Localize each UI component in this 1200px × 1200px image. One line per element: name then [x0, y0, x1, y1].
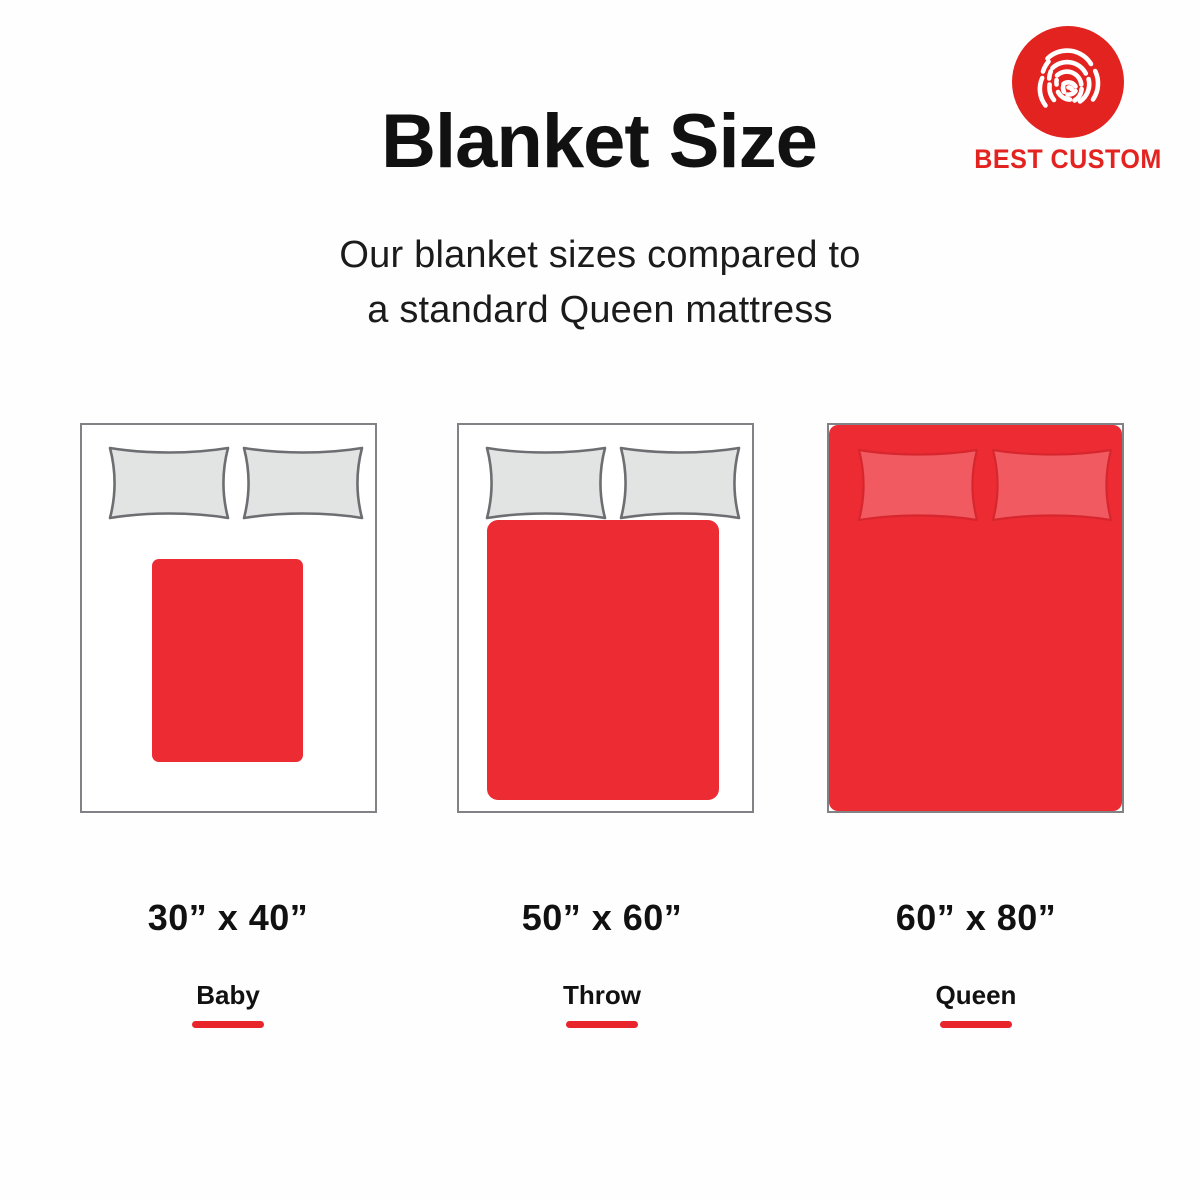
size-dimensions: 50” x 60” — [432, 900, 772, 936]
pillow-left — [855, 446, 981, 524]
pillow-right — [617, 444, 743, 522]
blanket-queen — [829, 425, 1122, 811]
caption-throw: 50” x 60” Throw — [432, 900, 772, 1028]
size-name: Baby — [58, 982, 398, 1008]
size-name: Throw — [432, 982, 772, 1008]
pillow-left — [483, 444, 609, 522]
size-name: Queen — [806, 982, 1146, 1008]
accent-underline — [566, 1021, 638, 1028]
bed-diagram-baby — [80, 423, 377, 813]
pillow-left — [106, 444, 232, 522]
subtitle-line-2: a standard Queen mattress — [0, 283, 1200, 338]
caption-baby: 30” x 40” Baby — [58, 900, 398, 1028]
blanket-throw — [487, 520, 719, 800]
size-dimensions: 30” x 40” — [58, 900, 398, 936]
pillow-right — [240, 444, 366, 522]
size-dimensions: 60” x 80” — [806, 900, 1146, 936]
blanket-baby — [152, 559, 303, 762]
page-title: Blanket Size — [0, 104, 1199, 180]
pillow-right — [989, 446, 1115, 524]
bed-diagram-throw — [457, 423, 754, 813]
bed-diagram-queen — [827, 423, 1124, 813]
accent-underline — [940, 1021, 1012, 1028]
subtitle-line-1: Our blanket sizes compared to — [0, 228, 1200, 283]
infographic-canvas: BEST CUSTOM Blanket Size Our blanket siz… — [0, 0, 1200, 1200]
caption-queen: 60” x 80” Queen — [806, 900, 1146, 1028]
accent-underline — [192, 1021, 264, 1028]
bed-comparison-group — [0, 423, 1200, 823]
caption-group: 30” x 40” Baby 50” x 60” Throw 60” x 80”… — [0, 900, 1200, 1040]
page-subtitle: Our blanket sizes compared to a standard… — [0, 228, 1200, 338]
